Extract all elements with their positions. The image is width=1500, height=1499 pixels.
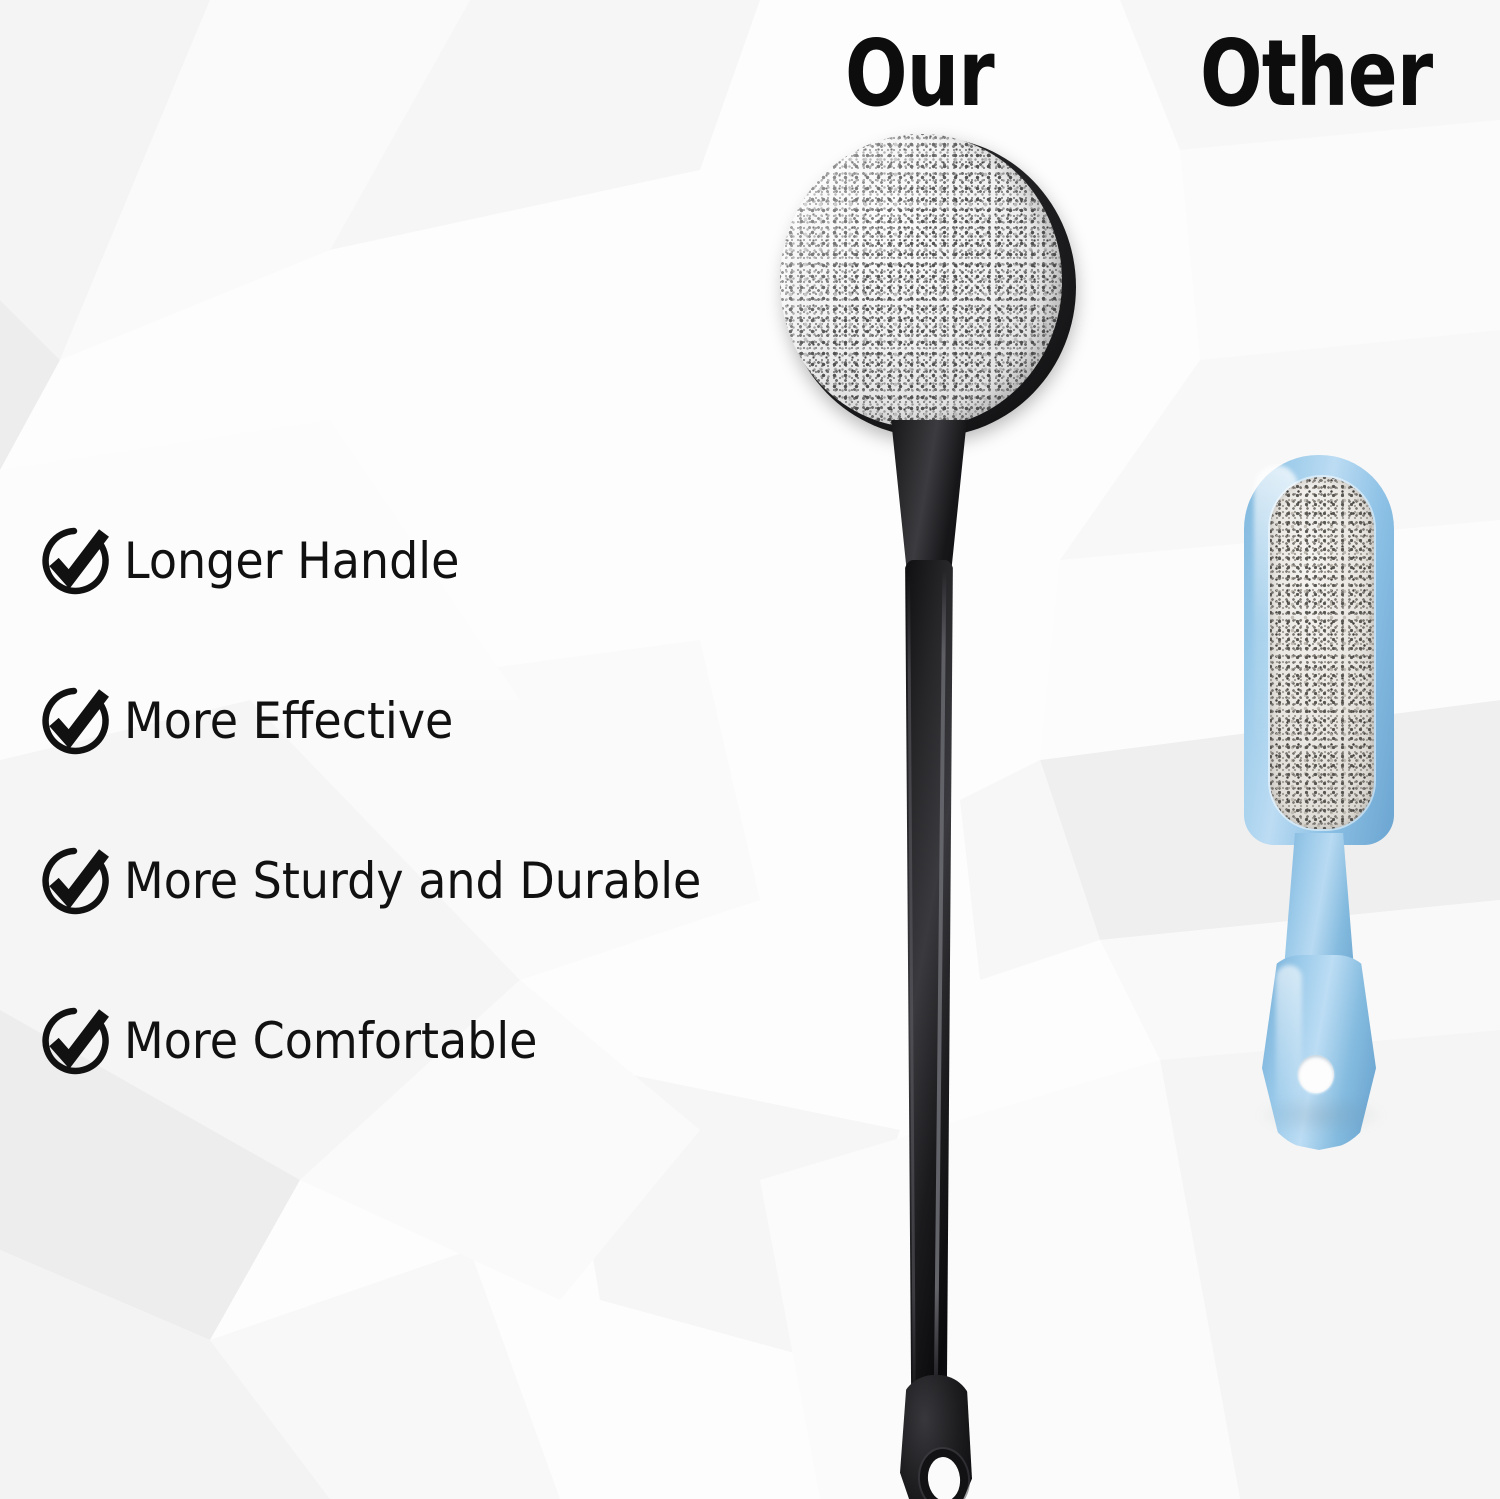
check-circle-icon	[34, 841, 114, 921]
our-product-neck	[886, 420, 972, 570]
list-item-label: Longer Handle	[124, 536, 459, 586]
our-product-image	[760, 120, 1120, 1480]
pumice-texture	[1270, 477, 1374, 829]
product-comparison-image: Our Other Longer Handle More Effective	[0, 0, 1500, 1499]
list-item-label: More Effective	[124, 696, 453, 746]
other-product-pumice-insert	[1270, 477, 1374, 829]
list-item: More Comfortable	[34, 1001, 573, 1081]
list-item: More Effective	[34, 681, 482, 761]
check-circle-icon	[34, 521, 114, 601]
list-item: Longer Handle	[34, 521, 489, 601]
list-item-label: More Comfortable	[124, 1016, 537, 1066]
other-product-handle-highlight	[1276, 965, 1302, 1115]
other-column-heading: Other	[1200, 28, 1432, 120]
pumice-highlight	[780, 134, 1062, 428]
our-product-pumice-head	[780, 134, 1062, 428]
other-product-image	[1240, 455, 1410, 1145]
check-circle-icon	[34, 681, 114, 761]
list-item: More Sturdy and Durable	[34, 841, 752, 921]
our-column-heading: Our	[845, 28, 994, 120]
other-product-shadow	[1256, 1095, 1386, 1135]
other-product-hang-hole	[1298, 1055, 1334, 1093]
check-circle-icon	[34, 1001, 114, 1081]
list-item-label: More Sturdy and Durable	[124, 856, 701, 906]
